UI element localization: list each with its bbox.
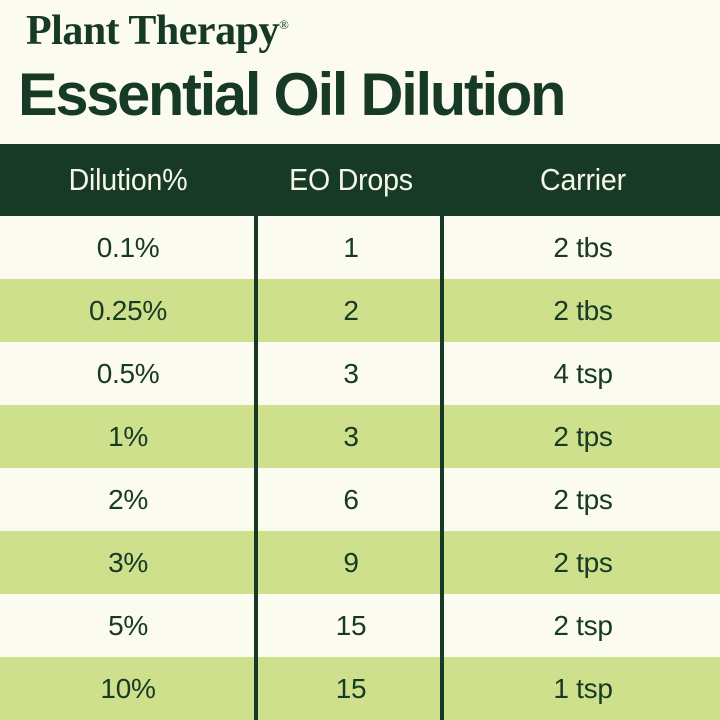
- table-row: 2% 6 2 tps: [0, 468, 720, 531]
- dilution-table: Dilution% EO Drops Carrier 0.1% 1 2 tbs …: [0, 144, 720, 720]
- cell-eo-drops: 3: [260, 421, 442, 453]
- table-row: 1% 3 2 tps: [0, 405, 720, 468]
- table-row: 0.25% 2 2 tbs: [0, 279, 720, 342]
- essential-oil-dilution-infographic: Plant Therapy® Essential Oil Dilution Di…: [0, 0, 720, 720]
- cell-carrier: 4 tsp: [446, 358, 720, 390]
- cell-carrier: 2 tps: [446, 484, 720, 516]
- cell-eo-drops: 6: [260, 484, 442, 516]
- cell-dilution: 5%: [0, 610, 256, 642]
- cell-carrier: 2 tsp: [446, 610, 720, 642]
- cell-dilution: 3%: [0, 547, 256, 579]
- cell-dilution: 0.1%: [0, 232, 256, 264]
- column-divider-1: [254, 216, 258, 720]
- cell-carrier: 2 tbs: [446, 232, 720, 264]
- cell-eo-drops: 3: [260, 358, 442, 390]
- cell-eo-drops: 1: [260, 232, 442, 264]
- cell-carrier: 1 tsp: [446, 673, 720, 705]
- column-divider-2: [440, 216, 444, 720]
- cell-eo-drops: 2: [260, 295, 442, 327]
- column-header-eo-drops: EO Drops: [267, 162, 434, 198]
- cell-carrier: 2 tps: [446, 547, 720, 579]
- cell-carrier: 2 tbs: [446, 295, 720, 327]
- cell-eo-drops: 15: [260, 610, 442, 642]
- cell-eo-drops: 15: [260, 673, 442, 705]
- table-row: 0.5% 3 4 tsp: [0, 342, 720, 405]
- table-row: 0.1% 1 2 tbs: [0, 216, 720, 279]
- cell-dilution: 1%: [0, 421, 256, 453]
- cell-dilution: 0.25%: [0, 295, 256, 327]
- page-title: Essential Oil Dilution: [18, 62, 564, 128]
- table-row: 3% 9 2 tps: [0, 531, 720, 594]
- brand-header: Plant Therapy® Essential Oil Dilution: [0, 0, 720, 144]
- brand-name: Plant Therapy: [26, 8, 279, 54]
- cell-dilution: 0.5%: [0, 358, 256, 390]
- table-row: 5% 15 2 tsp: [0, 594, 720, 657]
- table-body: 0.1% 1 2 tbs 0.25% 2 2 tbs 0.5% 3 4 tsp: [0, 216, 720, 720]
- column-header-carrier: Carrier: [457, 162, 709, 198]
- cell-dilution: 10%: [0, 673, 256, 705]
- registered-trademark-icon: ®: [279, 17, 288, 32]
- column-header-dilution: Dilution%: [10, 162, 246, 198]
- brand-logo: Plant Therapy®: [26, 9, 288, 53]
- table-row: 10% 15 1 tsp: [0, 657, 720, 720]
- cell-carrier: 2 tps: [446, 421, 720, 453]
- table-header-row: Dilution% EO Drops Carrier: [0, 144, 720, 216]
- cell-eo-drops: 9: [260, 547, 442, 579]
- cell-dilution: 2%: [0, 484, 256, 516]
